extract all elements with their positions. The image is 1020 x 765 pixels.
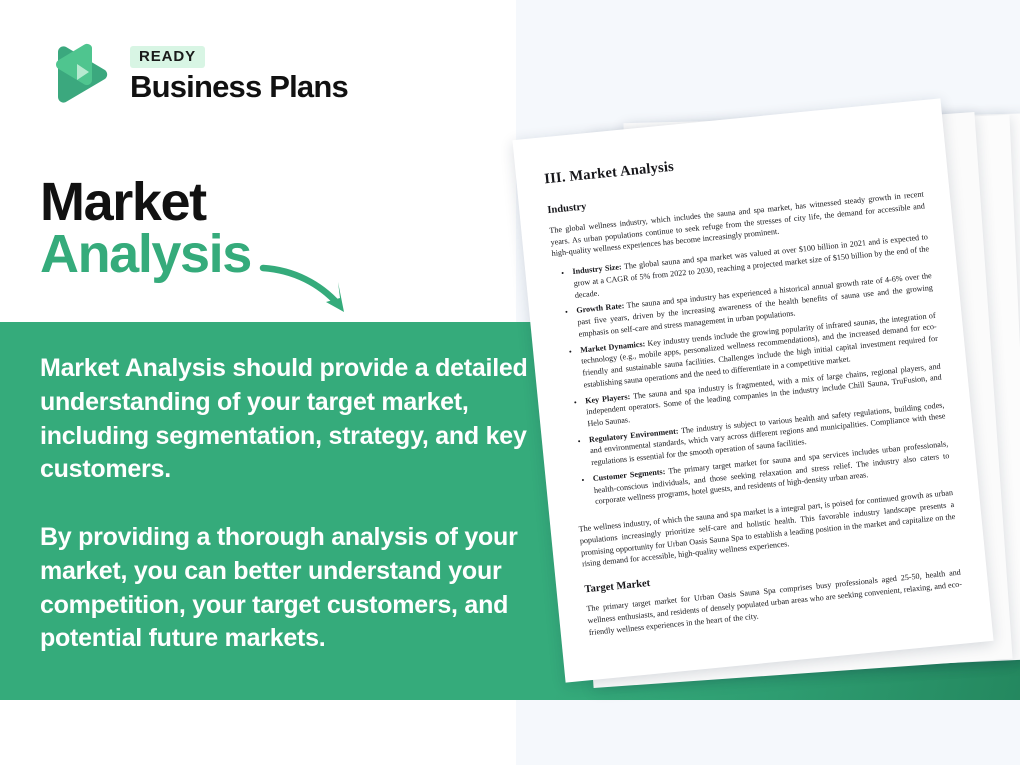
brand-logo[interactable]: READY Business Plans — [40, 36, 348, 112]
document-stack: growth ent. 21 and size rate of s of una… — [530, 100, 1020, 680]
curved-arrow-down-right-icon — [258, 258, 368, 326]
page-title-line2: Analysis — [40, 228, 251, 280]
panel-copy: Market Analysis should provide a detaile… — [40, 352, 560, 656]
page-title: Market Analysis — [40, 176, 251, 281]
play-logo-icon — [40, 36, 116, 112]
document-target-market-paragraph: The primary target market for Urban Oasi… — [586, 567, 964, 639]
panel-paragraph-2: By providing a thorough analysis of your… — [40, 521, 560, 656]
slide-root: READY Business Plans Market Analysis Mar… — [0, 0, 1020, 765]
page-title-line1: Market — [40, 176, 251, 228]
document-bullet-list: Industry Size: The global sauna and spa … — [553, 231, 951, 509]
brand-name: Business Plans — [130, 70, 348, 105]
document-content: III. Market Analysis Industry The global… — [512, 98, 993, 682]
ready-badge: READY — [130, 46, 205, 68]
panel-paragraph-1: Market Analysis should provide a detaile… — [40, 352, 560, 487]
document-page-front[interactable]: III. Market Analysis Industry The global… — [512, 98, 993, 682]
